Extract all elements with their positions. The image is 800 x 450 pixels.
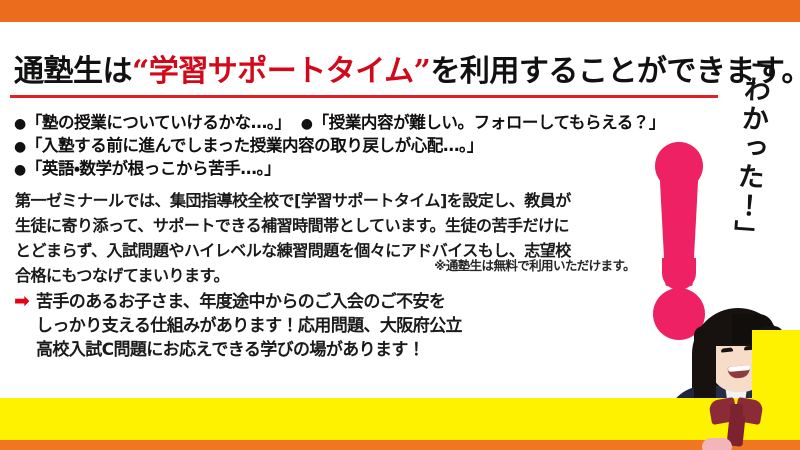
right-arrow-icon: ➡ bbox=[14, 292, 30, 311]
title-underline bbox=[10, 95, 718, 98]
free-of-charge-note: ※通塾生は無料で利用いただけます。 bbox=[400, 258, 635, 274]
hand bbox=[702, 438, 732, 450]
callout-line: 高校入試C問題にお応えできる学びの場があります！ bbox=[36, 338, 574, 362]
slide-canvas: 通塾生は“学習サポートタイム”を利用することができます。 ●「塾の授業についてい… bbox=[0, 0, 800, 450]
bullet-icon: ● bbox=[301, 116, 313, 132]
bottom-yellow-bar bbox=[0, 398, 800, 440]
bullet-icon: ● bbox=[14, 162, 26, 178]
page-title: 通塾生は“学習サポートタイム”を利用することができます。 bbox=[14, 50, 720, 94]
list-item-label: 「授業内容が難しい。フォローしてもらえる？」 bbox=[313, 113, 665, 132]
top-orange-bar bbox=[0, 0, 800, 22]
callout-block: ➡ 苦手のあるお子さま、年度途中からのご入会のご不安を しっかり支える仕組みがあ… bbox=[14, 290, 574, 362]
headline-prefix: 通塾生は bbox=[14, 57, 132, 87]
paragraph-line: 生徒に寄り添って、サポートできる補習時間帯としています。生徒の苦手だけに bbox=[15, 213, 645, 238]
headline-quote-close: ” bbox=[414, 57, 431, 87]
bullet-icon: ● bbox=[14, 139, 26, 155]
ribbon-center-knot bbox=[730, 404, 743, 417]
list-item-label: 「英語・数学が根っこから苦手…。」 bbox=[26, 159, 281, 178]
callout-line: しっかり支える仕組みがあります！応用問題、大阪府公立 bbox=[36, 314, 574, 338]
concern-bullet-list: ●「塾の授業についていけるかな…。」●「授業内容が難しい。フォローしてもらえる？… bbox=[14, 112, 704, 181]
headline-quote-open: “ bbox=[132, 57, 149, 87]
bullet-icon: ● bbox=[14, 116, 26, 132]
list-item: ●「英語・数学が根っこから苦手…。」 bbox=[14, 158, 704, 181]
callout-line: 苦手のあるお子さま、年度途中からのご入会のご不安を bbox=[36, 290, 574, 314]
list-item-label: 「入塾する前に進んでしまった授業内容の取り戻しが心配…。」 bbox=[26, 136, 483, 155]
list-item: ●「入塾する前に進んでしまった授業内容の取り戻しが心配…。」 bbox=[14, 135, 704, 158]
paragraph-line: 第一ゼミナールでは、集団指導校全校で[学習サポートタイム]を設定し、教員が bbox=[15, 188, 645, 213]
callout-text: 苦手のあるお子さま、年度途中からのご入会のご不安を しっかり支える仕組みがありま… bbox=[36, 290, 574, 362]
list-item: ●「塾の授業についていけるかな…。」●「授業内容が難しい。フォローしてもらえる？… bbox=[14, 112, 704, 135]
bottom-orange-bar bbox=[0, 440, 800, 450]
yellow-corner-block bbox=[752, 330, 800, 400]
list-item-label: 「塾の授業についていけるかな…。」 bbox=[26, 113, 291, 132]
headline-emphasis: 学習サポートタイム bbox=[149, 57, 414, 87]
